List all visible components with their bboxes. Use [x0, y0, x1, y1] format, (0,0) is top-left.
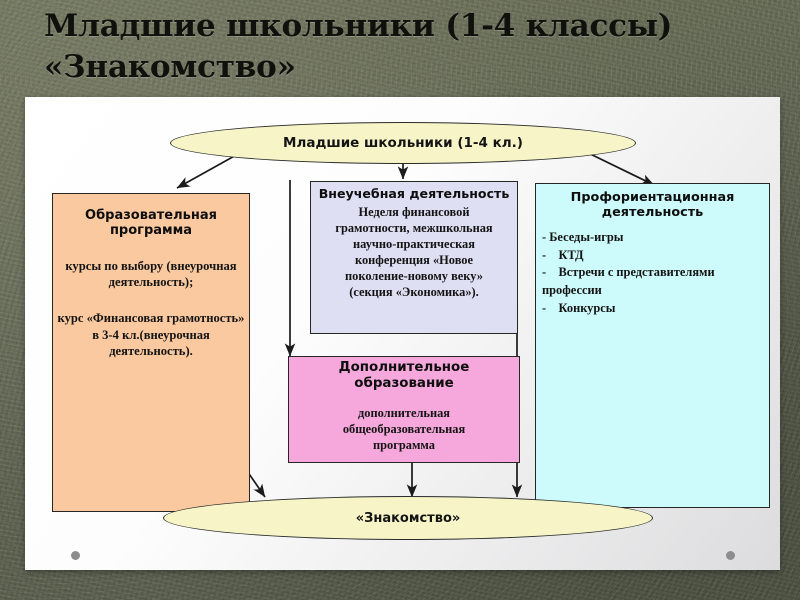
prof-header-line-1: Профориентационная	[536, 190, 769, 205]
node-bottom-label: «Знакомство»	[356, 511, 461, 526]
add-line-3: программа	[289, 437, 519, 453]
decorative-dot-right	[726, 551, 735, 560]
decorative-dot-left	[71, 551, 80, 560]
extra-line-1: Неделя финансовой	[311, 204, 517, 220]
extra-line-5: поколение-новому веку»	[311, 268, 517, 284]
node-bottom-acquaintance[interactable]: «Знакомство»	[163, 496, 653, 540]
edu-line-4: курс «Финансовая грамотность»	[53, 310, 249, 326]
box-career-guidance-header: Профориентационная деятельность	[536, 190, 769, 220]
prof-bullet-1: - Беседы-игры	[542, 229, 769, 247]
slide-content-panel: Младшие школьники (1-4 кл.) Образователь…	[25, 97, 780, 570]
edu-line-1: курсы по выбору (внеурочная	[53, 258, 249, 274]
add-line-2: общеобразовательная	[289, 421, 519, 437]
edu-line-gap	[53, 290, 249, 310]
box-educational-program[interactable]: Образовательная программа курсы по выбор…	[52, 193, 250, 512]
prof-header-line-2: деятельность	[536, 205, 769, 220]
box-career-guidance-bullets: - Беседы-игры - КТД - Встречи с представ…	[542, 229, 769, 317]
edu-line-6: деятельность).	[53, 343, 249, 359]
extra-line-2: грамотности, межшкольная	[311, 220, 517, 236]
box-extracurricular-activity-header: Внеучебная деятельность	[311, 187, 517, 202]
box-additional-education-header: Дополнительное образование	[289, 360, 519, 392]
edu-line-5: в 3-4 кл.(внеурочная	[53, 327, 249, 343]
box-educational-program-header: Образовательная программа	[53, 208, 249, 239]
prof-bullet-3: - Встречи с представителями	[542, 264, 769, 282]
page-title-line-1: Младшие школьники (1-4 классы)	[44, 6, 784, 47]
node-top-label: Младшие школьники (1-4 кл.)	[283, 135, 523, 151]
box-educational-program-body: курсы по выбору (внеурочная деятельность…	[53, 258, 249, 360]
prof-bullet-4: - Конкурсы	[542, 300, 769, 318]
page-title-line-2: «Знакомство»	[44, 47, 784, 88]
box-additional-education-body: дополнительная общеобразовательная прогр…	[289, 405, 519, 453]
extra-line-3: научно-практическая	[311, 236, 517, 252]
extra-line-4: конференция «Новое	[311, 252, 517, 268]
box-extracurricular-activity[interactable]: Внеучебная деятельность Неделя финансово…	[310, 181, 518, 334]
slide-canvas: Младшие школьники (1-4 классы) «Знакомст…	[0, 0, 800, 600]
node-top-younger-schoolchildren[interactable]: Младшие школьники (1-4 кл.)	[170, 122, 636, 164]
edu-line-2: деятельность);	[53, 274, 249, 290]
page-title: Младшие школьники (1-4 классы) «Знакомст…	[44, 6, 784, 88]
extra-line-6: (секция «Экономика»).	[311, 284, 517, 300]
prof-bullet-3-wrap: профессии	[542, 282, 769, 300]
prof-bullet-2: - КТД	[542, 247, 769, 265]
box-career-guidance[interactable]: Профориентационная деятельность - Беседы…	[535, 183, 770, 508]
box-additional-education[interactable]: Дополнительное образование дополнительна…	[288, 356, 520, 463]
add-line-1: дополнительная	[289, 405, 519, 421]
box-extracurricular-activity-body: Неделя финансовой грамотности, межшкольн…	[311, 204, 517, 301]
